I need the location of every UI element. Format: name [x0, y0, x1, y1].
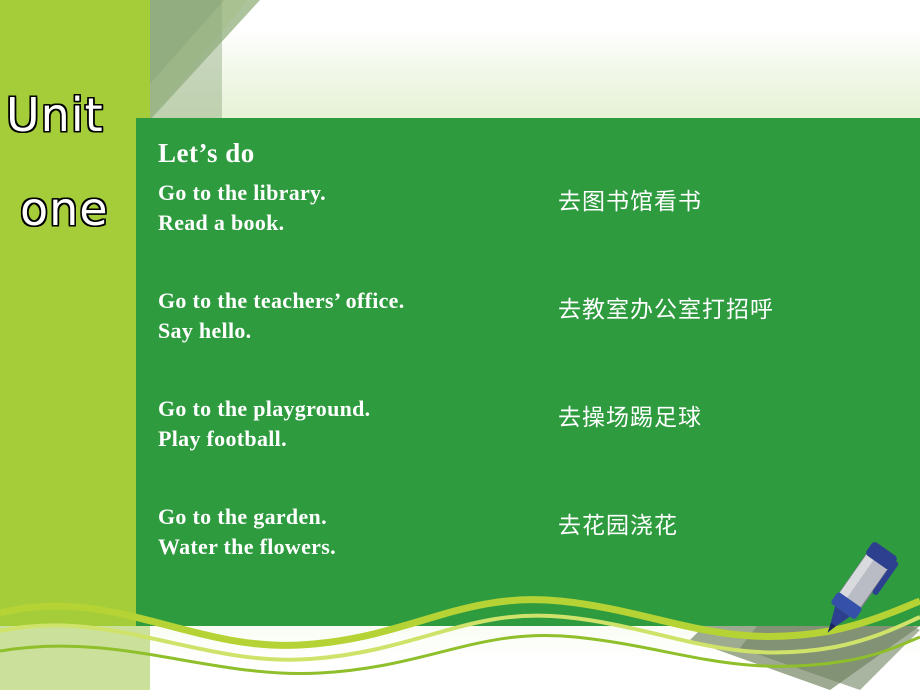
phrase-english: Go to the library. Read a book. [158, 178, 326, 237]
list-item: Go to the library. Read a book. 去图书馆看书 [158, 178, 898, 286]
list-item: Go to the teachers’ office. Say hello. 去… [158, 286, 898, 394]
slide: Unit one Let’s do Go to the library. Rea… [0, 0, 920, 690]
ribbon-swoosh-decoration [0, 555, 920, 690]
phrase-english: Go to the playground. Play football. [158, 394, 371, 453]
pencil-icon [800, 540, 910, 655]
unit-title-line2: one [20, 182, 146, 236]
phrase-chinese: 去教室办公室打招呼 [558, 290, 774, 324]
page-title: Unit one [6, 88, 146, 237]
phrase-chinese: 去花园浇花 [558, 506, 678, 540]
phrase-english: Go to the garden. Water the flowers. [158, 502, 336, 561]
phrase-english: Go to the teachers’ office. Say hello. [158, 286, 405, 345]
section-heading: Let’s do [158, 138, 255, 169]
phrase-chinese: 去图书馆看书 [558, 182, 702, 216]
unit-title-line1: Unit [6, 88, 104, 142]
list-item: Go to the playground. Play football. 去操场… [158, 394, 898, 502]
phrase-list: Go to the library. Read a book. 去图书馆看书 G… [158, 178, 898, 610]
phrase-chinese: 去操场踢足球 [558, 398, 702, 432]
